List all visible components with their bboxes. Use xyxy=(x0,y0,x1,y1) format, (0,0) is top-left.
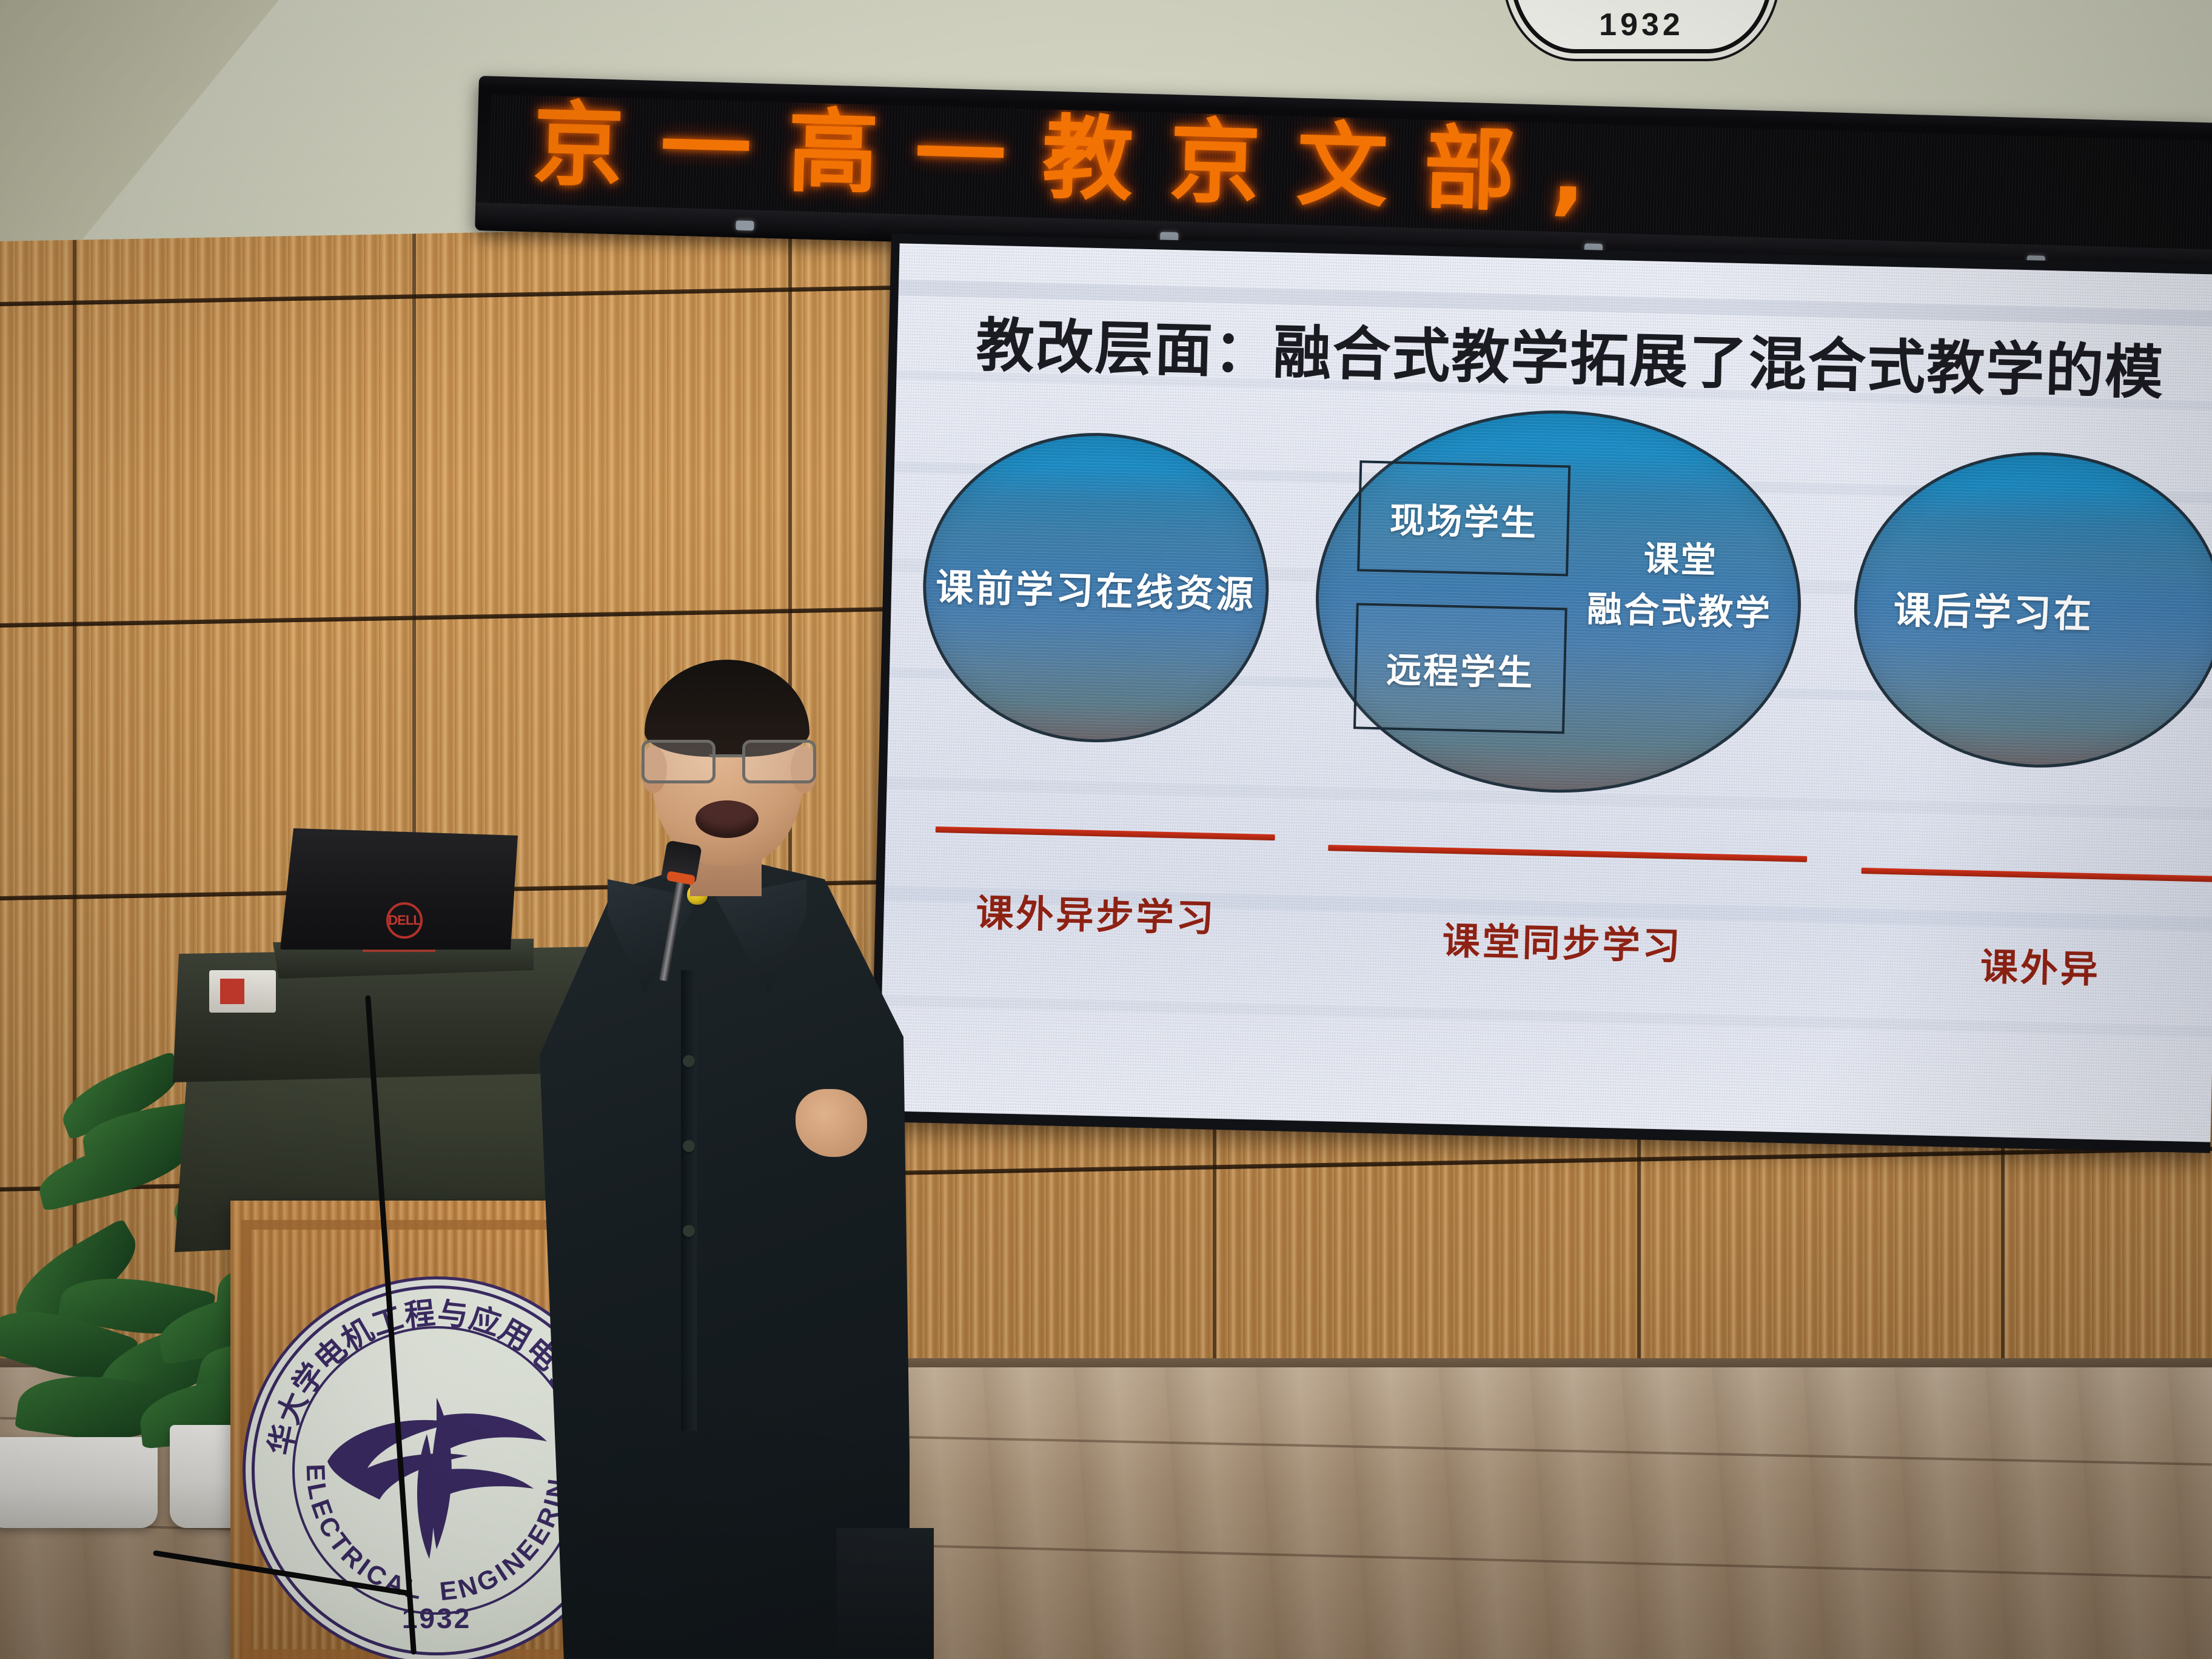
shirt-button xyxy=(683,1140,695,1152)
slide-phase-label-2: 课堂同步学习 xyxy=(1442,910,1683,970)
slide-ellipse-label: 课前学习在线资源 xyxy=(925,557,1266,619)
dell-logo-icon: DELL xyxy=(386,902,423,939)
slide-phase-label-3: 课外异 xyxy=(1980,936,2101,994)
podium-control-plate[interactable] xyxy=(209,970,276,1013)
slide-ellipse-post-class: 课后学习在 xyxy=(1851,448,2212,772)
slide-divider xyxy=(936,826,1275,840)
slide-divider xyxy=(1328,845,1807,862)
led-banner-bolt xyxy=(736,221,754,231)
slide-phase-label-1: 课外异步学习 xyxy=(976,882,1217,942)
slide-box-remote-students: 远程学生 xyxy=(1353,603,1567,734)
projection-screen-surface: 教改层面：融合式教学拓展了混合式教学的模 课前学习在线资源 现场学生 远程学生 … xyxy=(879,243,2212,1142)
ceiling-emblem-year: 1932 xyxy=(1514,7,1769,43)
glasses-icon xyxy=(642,740,817,780)
presenter-mouth xyxy=(695,800,759,838)
slide-ellipse-in-class: 现场学生 远程学生 课堂 融合式教学 xyxy=(1312,405,1806,799)
photo-scene: 1932 京一高一教京文部, xyxy=(0,0,2212,1659)
slide-box-onsite-students: 现场学生 xyxy=(1357,460,1570,576)
seal-swoosh-mark xyxy=(327,1398,547,1559)
slide-title: 教改层面：融合式教学拓展了混合式教学的模 xyxy=(975,315,2212,406)
slide-center-label-line2: 融合式教学 xyxy=(1567,586,1792,635)
presenter-hand xyxy=(796,1089,867,1157)
projection-screen: 教改层面：融合式教学拓展了混合式教学的模 课前学习在线资源 现场学生 远程学生 … xyxy=(870,233,2212,1153)
presenter-legs xyxy=(837,1528,934,1659)
shirt-button xyxy=(683,1225,695,1237)
glasses-bridge xyxy=(709,754,742,757)
glasses-lens-left xyxy=(642,740,716,783)
glasses-lens-right xyxy=(742,740,816,783)
podium-control-button[interactable] xyxy=(220,979,244,1004)
slide-ellipse-label: 课后学习在 xyxy=(1857,578,2212,642)
presenter-shirt-placket xyxy=(681,970,697,1431)
slide-box-label: 现场学生 xyxy=(1360,491,1567,546)
led-banner-text: 京一高一教京文部, xyxy=(532,99,1623,220)
ceiling-emblem: 1932 xyxy=(1510,0,1773,53)
presenter xyxy=(534,655,910,1659)
slide-divider xyxy=(1862,868,2212,882)
slide-center-label-line1: 课堂 xyxy=(1580,535,1781,584)
shirt-button xyxy=(683,1055,695,1067)
slide-box-label: 远程学生 xyxy=(1356,640,1564,696)
